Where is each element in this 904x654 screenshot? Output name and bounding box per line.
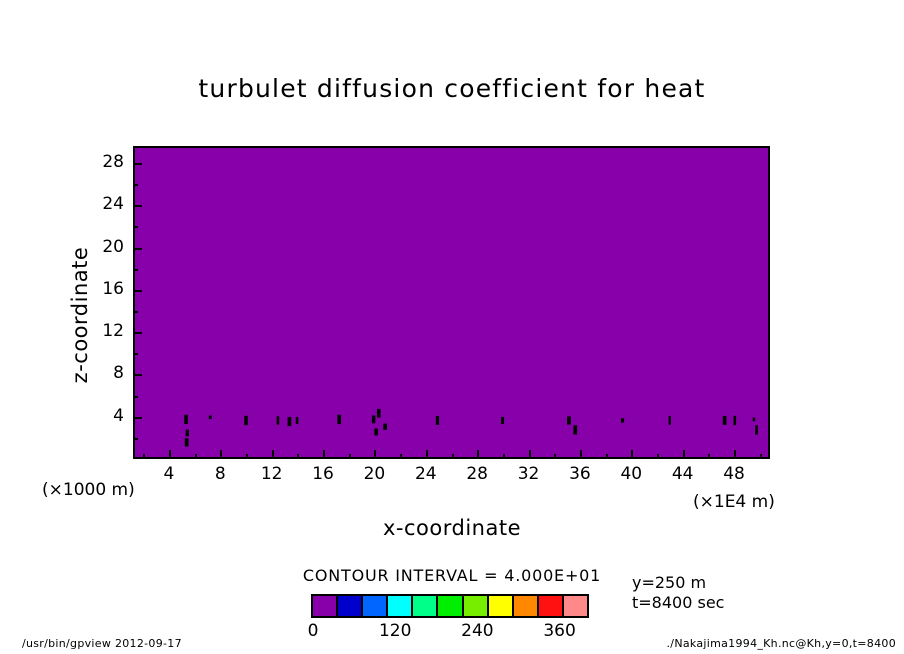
x-tick-label: 48: [714, 464, 754, 484]
footer-left-text: /usr/bin/gpview 2012-09-17: [22, 637, 182, 650]
colorbar-tick-label: 120: [372, 621, 418, 641]
colorbar-cell-3: [388, 596, 413, 616]
y-axis-unit-label: (×1000 m): [42, 480, 135, 500]
x-tick-label: 20: [354, 464, 394, 484]
contour-speckle: [372, 416, 375, 424]
contour-speckle: [753, 418, 756, 422]
x-tick-label: 16: [303, 464, 343, 484]
colorbar-tick-label: 360: [537, 621, 583, 641]
colorbar-tick-label: 0: [290, 621, 336, 641]
contour-speckle: [567, 416, 571, 424]
colorbar-cell-4: [413, 596, 438, 616]
contour-speckle: [184, 415, 188, 424]
contour-speckle: [755, 425, 758, 434]
contour-speckle: [501, 417, 504, 424]
contour-speckle: [377, 409, 381, 418]
x-tick-label: 4: [149, 464, 189, 484]
colorbar-tick-label: 240: [454, 621, 500, 641]
contour-speckle: [436, 416, 439, 425]
x-tick-label: 36: [560, 464, 600, 484]
colorbar-cell-0: [313, 596, 338, 616]
contour-speckle: [277, 416, 280, 424]
x-tick-label: 44: [663, 464, 703, 484]
contour-speckle-layer: [135, 148, 768, 457]
x-axis-title: x-coordinate: [0, 516, 904, 540]
contour-speckle: [185, 438, 189, 446]
contour-speckle: [723, 416, 727, 425]
contour-speckle: [734, 416, 737, 425]
colorbar-tick-labels: 0120240360: [311, 621, 589, 643]
contour-speckle: [244, 416, 248, 425]
contour-speckle: [573, 425, 577, 434]
colorbar-cell-10: [564, 596, 587, 616]
x-tick-label: 28: [457, 464, 497, 484]
colorbar-cell-9: [539, 596, 564, 616]
contour-speckle: [337, 415, 341, 424]
x-tick-label: 8: [200, 464, 240, 484]
contour-speckle: [374, 428, 378, 435]
footer-right-text: ./Nakajima1994_Kh.nc@Kh,y=0,t=8400: [667, 637, 896, 650]
annotation-y-slice: y=250 m: [632, 573, 724, 593]
contour-speckle: [669, 416, 671, 425]
colorbar-cell-7: [489, 596, 514, 616]
annotation-time: t=8400 sec: [632, 593, 724, 613]
x-tick-label: 12: [252, 464, 292, 484]
slice-annotation: y=250 m t=8400 sec: [632, 573, 724, 613]
contour-speckle: [621, 418, 624, 422]
x-axis-unit-label: (×1E4 m): [693, 492, 775, 512]
x-tick-label: 32: [509, 464, 549, 484]
x-tick-label: 40: [611, 464, 651, 484]
colorbar-cell-8: [514, 596, 539, 616]
contour-speckle: [186, 430, 189, 437]
plot-area: [133, 146, 770, 459]
contour-speckle: [383, 424, 387, 430]
colorbar-cell-2: [363, 596, 388, 616]
colorbar-cell-5: [438, 596, 463, 616]
y-axis-title: z-coordinate: [68, 195, 92, 435]
y-tick-label: 28: [84, 152, 124, 172]
contour-speckle: [209, 416, 212, 419]
colorbar-cell-1: [338, 596, 363, 616]
contour-speckle: [288, 417, 292, 426]
contour-speckle: [296, 417, 299, 424]
colorbar-cell-6: [464, 596, 489, 616]
page-title: turbulet diffusion coefficient for heat: [0, 74, 904, 103]
x-tick-label: 24: [406, 464, 446, 484]
colorbar: [311, 594, 589, 618]
contour-interval-label: CONTOUR INTERVAL = 4.000E+01: [0, 566, 904, 585]
